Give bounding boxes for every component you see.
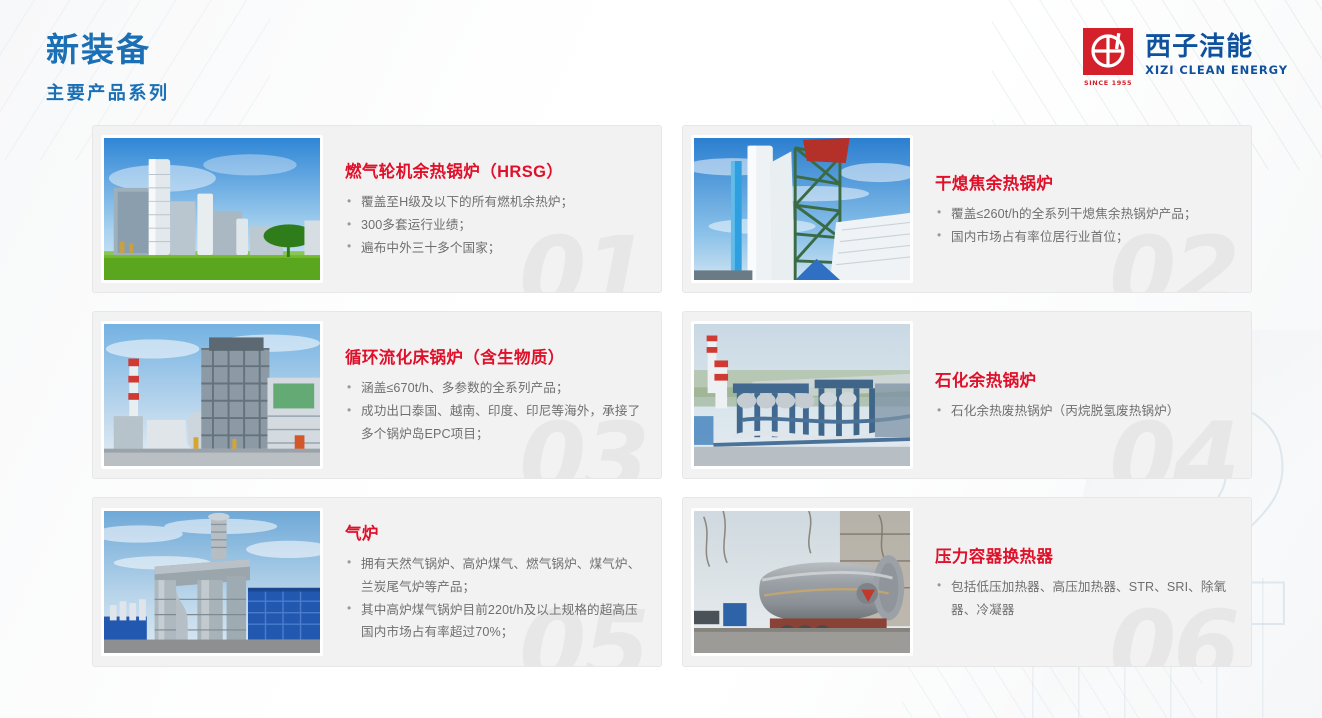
- page-title: 新装备: [46, 30, 170, 70]
- brand-text: 西子洁能 XIZI CLEAN ENERGY: [1145, 33, 1288, 81]
- page-header: 新装备 主要产品系列 SINCE 1955 西子洁能 XIZI CLEAN EN…: [0, 0, 1322, 120]
- product-card-03[interactable]: 03: [92, 311, 662, 479]
- card-body: 循环流化床锅炉（含生物质） 涵盖≤670t/h、多参数的全系列产品； 成功出口泰…: [323, 340, 661, 450]
- gas-fired-boiler-photo: [101, 508, 323, 656]
- card-body: 燃气轮机余热锅炉（HRSG） 覆盖至H级及以下的所有燃机余热炉； 300多套运行…: [323, 154, 661, 264]
- card-title: 干熄焦余热锅炉: [935, 170, 1235, 194]
- card-title: 压力容器换热器: [935, 543, 1235, 567]
- product-card-grid: 01: [92, 125, 1252, 667]
- coke-dry-quenching-boiler-photo: [691, 135, 913, 283]
- brand-mark: SINCE 1955: [1083, 28, 1133, 87]
- card-title: 石化余热锅炉: [935, 367, 1235, 391]
- card-bullet: 拥有天然气锅炉、高炉煤气、燃气锅炉、煤气炉、兰炭尾气炉等产品；: [345, 553, 645, 599]
- card-bullet-list: 拥有天然气锅炉、高炉煤气、燃气锅炉、煤气炉、兰炭尾气炉等产品； 其中高炉煤气锅炉…: [345, 553, 645, 645]
- petrochemical-waste-heat-boiler-photo: [691, 321, 913, 469]
- circulating-fluidized-bed-boiler-photo: [101, 321, 323, 469]
- card-bullet-list: 覆盖至H级及以下的所有燃机余热炉； 300多套运行业绩； 遍布中外三十多个国家；: [345, 191, 645, 260]
- card-bullet-list: 包括低压加热器、高压加热器、STR、SRI、除氧器、冷凝器: [935, 576, 1235, 622]
- product-card-02[interactable]: 02: [682, 125, 1252, 293]
- card-bullet-list: 石化余热废热锅炉（丙烷脱氢废热锅炉）: [935, 400, 1235, 423]
- card-body: 干熄焦余热锅炉 覆盖≤260t/h的全系列干熄焦余热锅炉产品； 国内市场占有率位…: [913, 166, 1251, 253]
- card-title: 气炉: [345, 520, 645, 544]
- card-bullet: 石化余热废热锅炉（丙烷脱氢废热锅炉）: [935, 400, 1235, 423]
- brand-name-en: XIZI CLEAN ENERGY: [1145, 63, 1288, 77]
- card-bullet-list: 覆盖≤260t/h的全系列干熄焦余热锅炉产品； 国内市场占有率位居行业首位；: [935, 203, 1235, 249]
- title-block: 新装备 主要产品系列: [46, 30, 170, 105]
- card-bullet: 遍布中外三十多个国家；: [345, 237, 645, 260]
- gas-turbine-hrsg-photo: [101, 135, 323, 283]
- card-bullet: 覆盖≤260t/h的全系列干熄焦余热锅炉产品；: [935, 203, 1235, 226]
- card-bullet: 其中高炉煤气锅炉目前220t/h及以上规格的超高压国内市场占有率超过70%；: [345, 599, 645, 645]
- card-title: 循环流化床锅炉（含生物质）: [345, 344, 645, 368]
- brand-logo: SINCE 1955 西子洁能 XIZI CLEAN ENERGY: [1083, 28, 1288, 87]
- product-card-06[interactable]: 06: [682, 497, 1252, 667]
- brand-name-cn: 西子洁能: [1145, 33, 1288, 60]
- card-bullet: 国内市场占有率位居行业首位；: [935, 226, 1235, 249]
- card-bullet: 覆盖至H级及以下的所有燃机余热炉；: [345, 191, 645, 214]
- brand-since-text: SINCE 1955: [1083, 79, 1133, 87]
- card-body: 石化余热锅炉 石化余热废热锅炉（丙烷脱氢废热锅炉）: [913, 363, 1251, 427]
- xizi-e-mark-icon: [1083, 28, 1133, 75]
- card-title: 燃气轮机余热锅炉（HRSG）: [345, 158, 645, 182]
- card-bullet: 包括低压加热器、高压加热器、STR、SRI、除氧器、冷凝器: [935, 576, 1235, 622]
- card-body: 气炉 拥有天然气锅炉、高炉煤气、燃气锅炉、煤气炉、兰炭尾气炉等产品； 其中高炉煤…: [323, 516, 661, 649]
- product-card-05[interactable]: 05: [92, 497, 662, 667]
- card-bullet-list: 涵盖≤670t/h、多参数的全系列产品； 成功出口泰国、越南、印度、印尼等海外，…: [345, 377, 645, 446]
- card-bullet: 300多套运行业绩；: [345, 214, 645, 237]
- product-card-04[interactable]: 04: [682, 311, 1252, 479]
- card-bullet: 成功出口泰国、越南、印度、印尼等海外，承接了多个锅炉岛EPC项目；: [345, 400, 645, 446]
- card-bullet: 涵盖≤670t/h、多参数的全系列产品；: [345, 377, 645, 400]
- pressure-vessel-heat-exchanger-photo: [691, 508, 913, 656]
- card-body: 压力容器换热器 包括低压加热器、高压加热器、STR、SRI、除氧器、冷凝器: [913, 539, 1251, 626]
- page-subtitle: 主要产品系列: [46, 79, 170, 105]
- product-card-01[interactable]: 01: [92, 125, 662, 293]
